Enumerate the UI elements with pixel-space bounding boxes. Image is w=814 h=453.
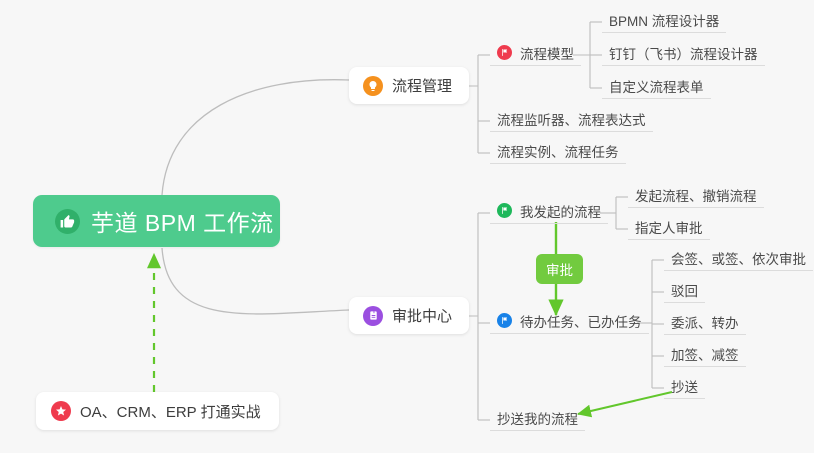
mindmap-canvas: 芋道 BPM 工作流 流程管理 流程模型 BPMN 流程设计器 钉钉（飞书）流程…	[0, 0, 814, 453]
branch-node-process-management[interactable]: 流程管理	[349, 67, 469, 104]
star-icon	[51, 401, 71, 421]
node-process-listener-expression[interactable]: 流程监听器、流程表达式	[490, 110, 653, 132]
node-label-add-remove-sign: 加签、减签	[671, 344, 739, 364]
node-process-model[interactable]: 流程模型	[490, 44, 581, 66]
node-label-todo-done-tasks: 待办任务、已办任务	[520, 311, 642, 331]
flag-green-icon	[497, 203, 512, 218]
node-start-cancel-process[interactable]: 发起流程、撤销流程	[628, 186, 764, 208]
branch-label-approval-center: 审批中心	[392, 305, 452, 326]
flag-blue-icon	[497, 313, 512, 328]
node-cc-to-me-process[interactable]: 抄送我的流程	[490, 409, 585, 431]
node-delegate-transfer[interactable]: 委派、转办	[664, 313, 746, 335]
node-label-assignee-approval: 指定人审批	[635, 217, 703, 237]
clipboard-icon	[363, 306, 383, 326]
node-my-started-process[interactable]: 我发起的流程	[490, 202, 608, 224]
node-add-remove-sign[interactable]: 加签、减签	[664, 345, 746, 367]
flag-red-icon	[497, 45, 512, 60]
extra-node-integration[interactable]: OA、CRM、ERP 打通实战	[36, 392, 279, 430]
node-label-carbon-copy: 抄送	[671, 376, 698, 396]
node-dingtalk-feishu-designer[interactable]: 钉钉（飞书）流程设计器	[602, 44, 765, 66]
node-label-start-cancel-process: 发起流程、撤销流程	[635, 185, 757, 205]
node-label-delegate-transfer: 委派、转办	[671, 312, 739, 332]
root-node[interactable]: 芋道 BPM 工作流	[33, 195, 280, 247]
node-countersign[interactable]: 会签、或签、依次审批	[664, 249, 813, 271]
root-label: 芋道 BPM 工作流	[91, 204, 274, 238]
node-process-instance-task[interactable]: 流程实例、流程任务	[490, 142, 626, 164]
node-carbon-copy[interactable]: 抄送	[664, 377, 705, 399]
branch-node-approval-center[interactable]: 审批中心	[349, 297, 469, 334]
node-assignee-approval[interactable]: 指定人审批	[628, 218, 710, 240]
node-custom-process-form[interactable]: 自定义流程表单	[602, 77, 711, 99]
lightbulb-icon	[363, 76, 383, 96]
node-bpmn-designer[interactable]: BPMN 流程设计器	[602, 11, 726, 33]
branch-label-process-management: 流程管理	[392, 75, 452, 96]
node-label-dingtalk-feishu-designer: 钉钉（飞书）流程设计器	[609, 43, 758, 63]
node-reject[interactable]: 驳回	[664, 281, 705, 303]
node-label-process-listener-expression: 流程监听器、流程表达式	[497, 109, 646, 129]
node-label-countersign: 会签、或签、依次审批	[671, 248, 806, 268]
edge-root-to-approval-center	[162, 248, 349, 314]
node-label-my-started-process: 我发起的流程	[520, 201, 601, 221]
edge-root-to-process-management	[162, 80, 349, 195]
node-label-process-model: 流程模型	[520, 43, 574, 63]
thumbs-up-icon	[55, 209, 80, 234]
arrow-cc-to-ccmine	[578, 392, 672, 414]
approval-tag[interactable]: 审批	[536, 254, 583, 284]
node-label-bpmn-designer: BPMN 流程设计器	[609, 10, 719, 30]
node-label-process-instance-task: 流程实例、流程任务	[497, 141, 619, 161]
extra-node-label: OA、CRM、ERP 打通实战	[80, 401, 261, 422]
node-label-cc-to-me-process: 抄送我的流程	[497, 408, 578, 428]
node-label-reject: 驳回	[671, 280, 698, 300]
node-todo-done-tasks[interactable]: 待办任务、已办任务	[490, 312, 649, 334]
approval-tag-label: 审批	[546, 259, 573, 279]
node-label-custom-process-form: 自定义流程表单	[609, 76, 704, 96]
